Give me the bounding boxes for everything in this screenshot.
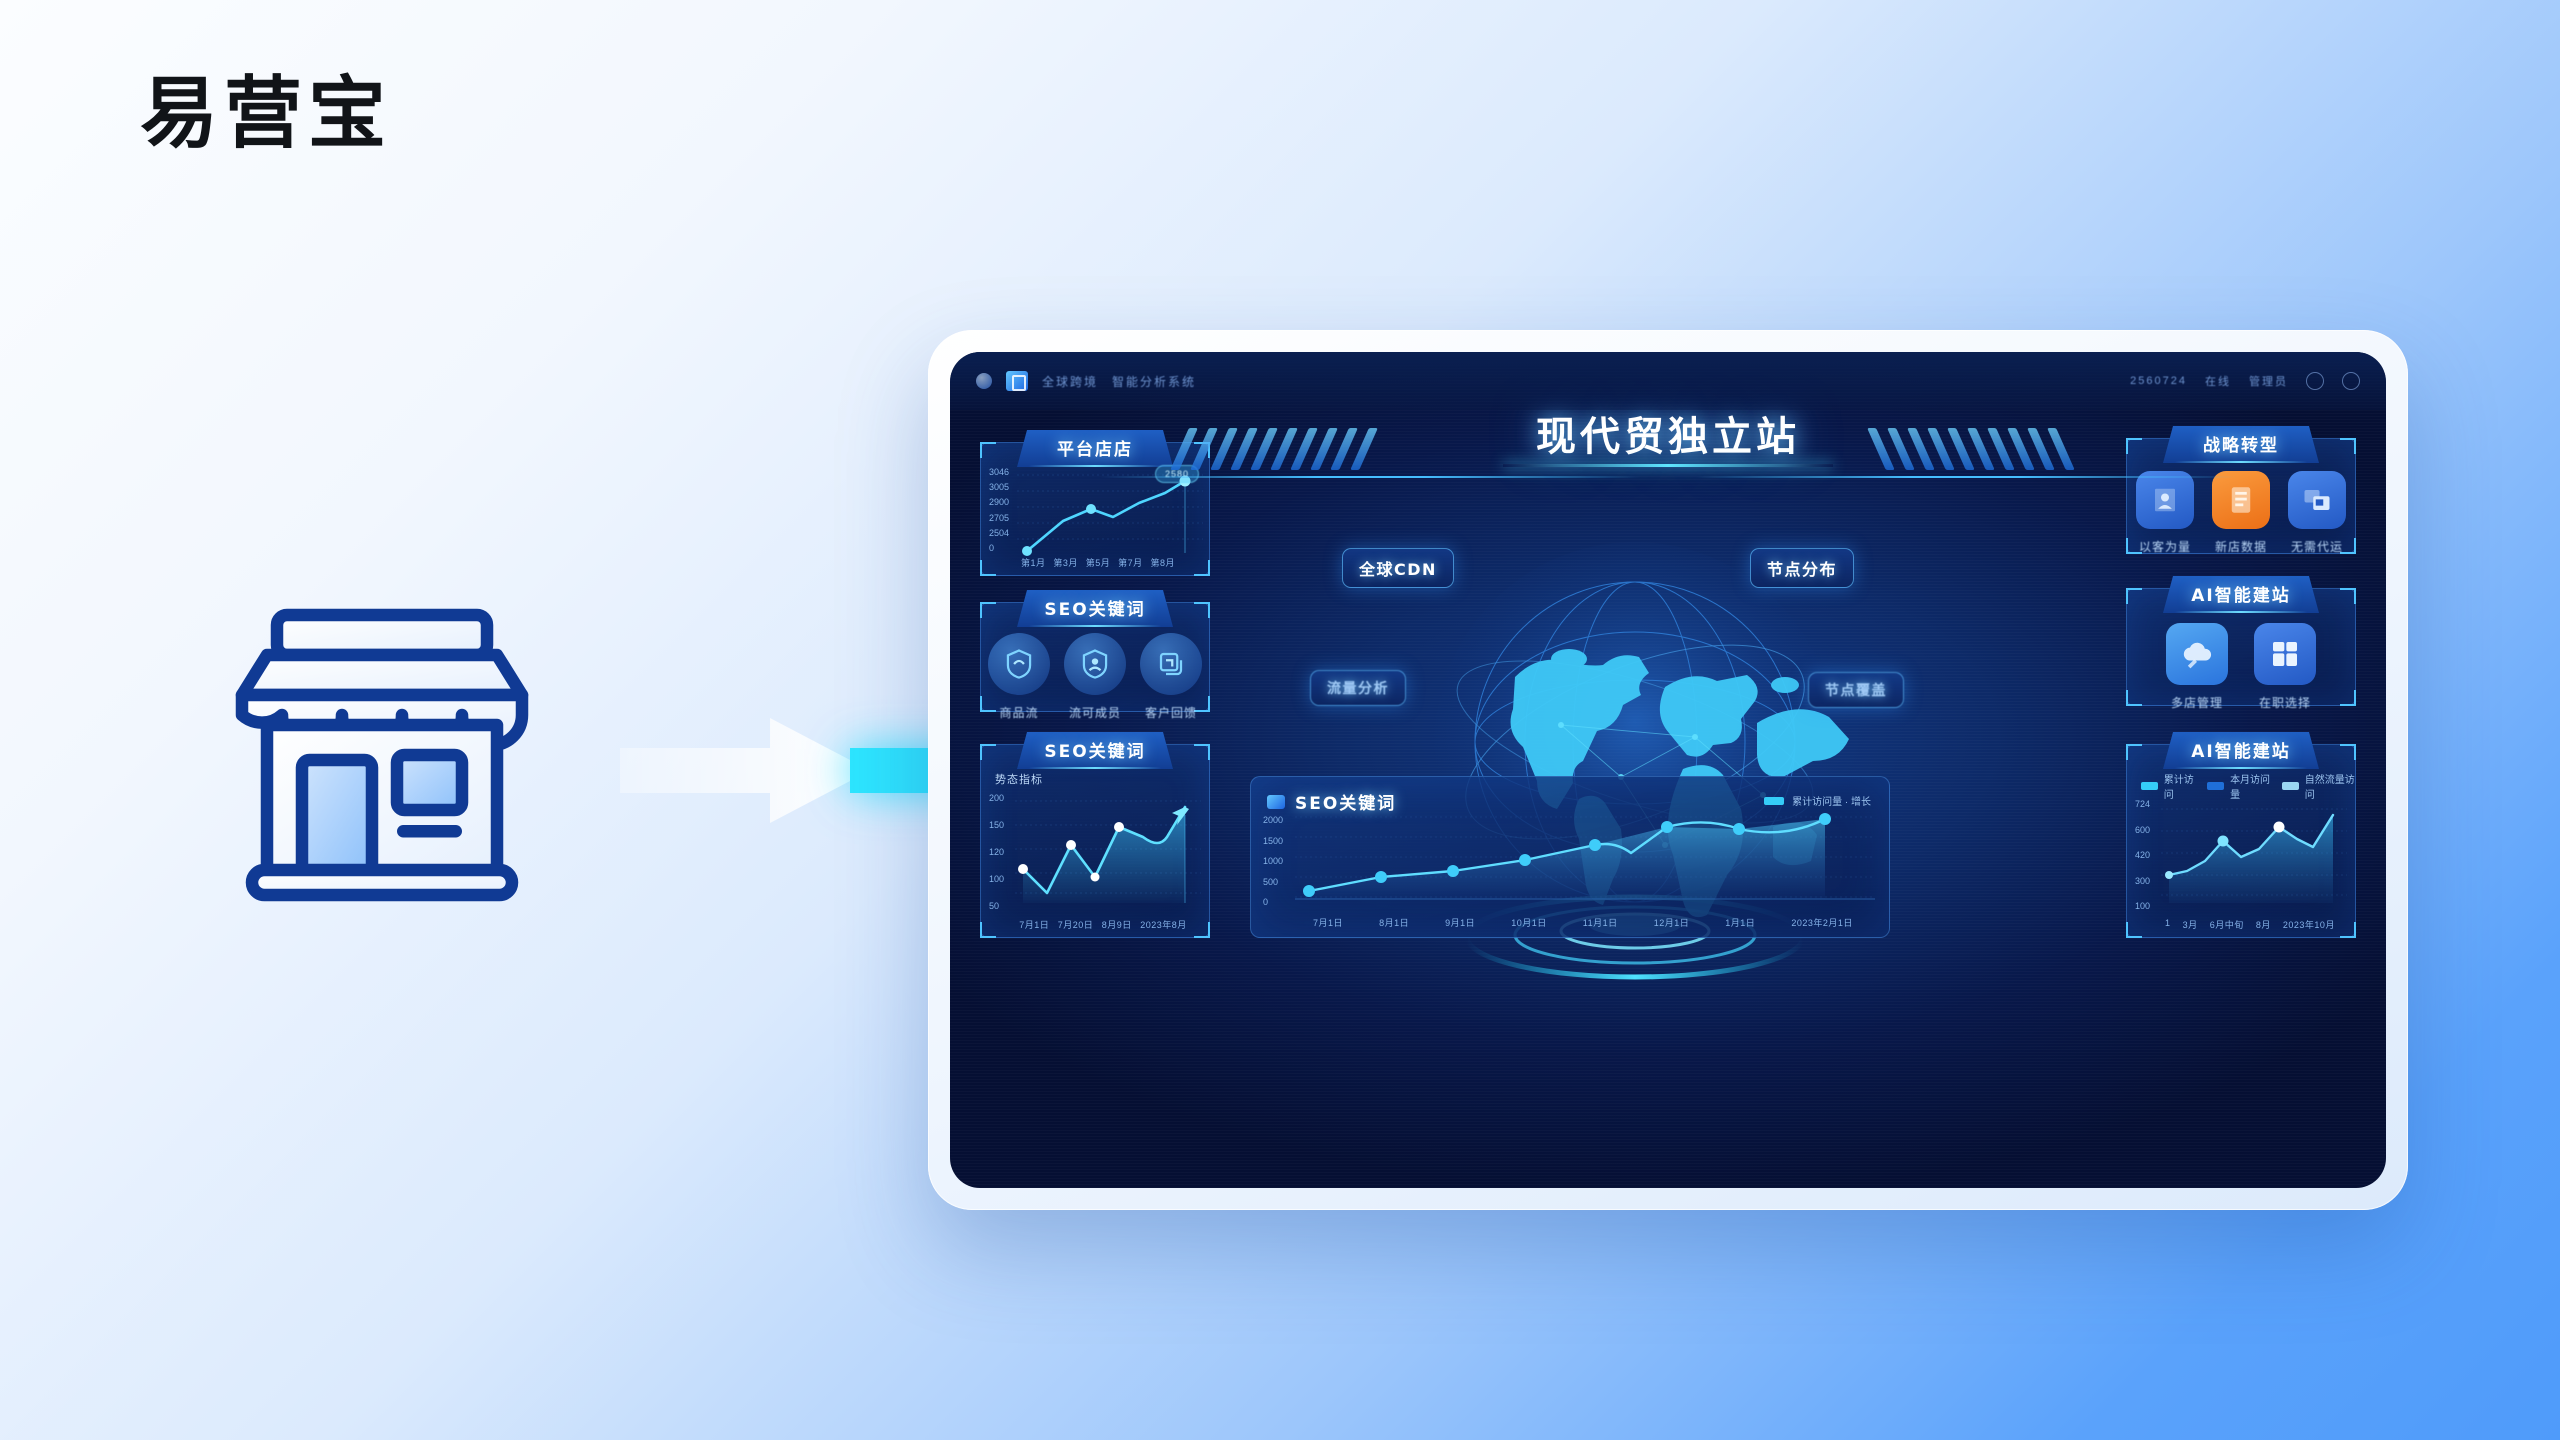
tablet-frame: 全球跨境 智能分析系统 2560724 在线 管理员 现代贸独立站	[928, 330, 2408, 1210]
ai-builder-tile-1-label: 在职选择	[2259, 694, 2311, 711]
topbar-meta-0: 2560724	[2130, 375, 2187, 387]
card-seo-main-chart[interactable]: SEO关键词 累计访问量 · 增长 2000 1500 1000 500 0	[1250, 776, 1890, 938]
dashboard-title: 现代贸独立站	[1536, 404, 1800, 462]
x-axis-labels: 第1月 第3月 第5月 第7月 第8月	[981, 556, 1209, 569]
header-wing-right	[1854, 422, 2177, 474]
x-axis-labels: 1 3月 6月中旬 8月 2023年10月	[2127, 918, 2355, 931]
app-logo-icon	[1006, 371, 1028, 391]
y-axis-labels: 2000 1500 1000 500 0	[1263, 815, 1283, 907]
nav-item-1[interactable]: 智能分析系统	[1112, 373, 1196, 390]
card-ai-builder-chart[interactable]: AI智能建站 累计访问 本月访问量 自然流量访问 724 600 420 300…	[2126, 744, 2356, 938]
seo-tile-2[interactable]: 客户回馈	[1133, 633, 1209, 721]
seo-tile-0-label: 商品流	[999, 704, 1038, 721]
card-seo-keyword-icons[interactable]: SEO关键词 商品流 流可	[980, 602, 1210, 712]
legend-label-1: 本月访问量	[2230, 771, 2272, 801]
storefront-icon	[232, 600, 532, 910]
legend-label-2: 自然流量访问	[2305, 771, 2355, 801]
card-ai-builder-title: AI智能建站	[2163, 576, 2319, 613]
ai-builder-tile-1[interactable]: 在职选择	[2241, 623, 2329, 711]
arrow-right-icon	[620, 718, 870, 823]
ai-chart-legend: 累计访问 本月访问量 自然流量访问	[2141, 771, 2355, 801]
legend-label-0: 累计访问	[2164, 771, 2198, 801]
seo-trend-subtitle: 势态指标	[995, 771, 1043, 787]
header-rule-right	[1696, 476, 2236, 478]
legend-label-0: 累计访问量 · 增长	[1792, 793, 1871, 808]
y-axis-labels: 200 150 120 100 50	[989, 793, 1004, 911]
topbar-meta-1: 在线	[2205, 373, 2231, 389]
status-dot-icon	[976, 373, 992, 389]
node-distribution-label[interactable]: 节点分布	[1750, 548, 1854, 588]
topbar-meta-2: 管理员	[2249, 373, 2288, 389]
seo-main-area-chart	[1295, 811, 1875, 909]
card-ai-builder-chart-title: AI智能建站	[2163, 732, 2319, 769]
leaf-badge-icon	[988, 633, 1050, 695]
y-axis-labels: 724 600 420 300 100	[2135, 799, 2150, 911]
ai-builder-tile-0-label: 多店管理	[2171, 694, 2223, 711]
node-coverage-label[interactable]: 节点覆盖	[1808, 672, 1904, 708]
header-rule-left	[1100, 476, 1640, 478]
nav-item-0[interactable]: 全球跨境	[1042, 373, 1098, 390]
card-seo-icons-title: SEO关键词	[1017, 590, 1173, 627]
ai-builder-tile-0[interactable]: 多店管理	[2153, 623, 2241, 711]
card-seo-trend-title: SEO关键词	[1017, 732, 1173, 769]
seo-main-icon	[1267, 795, 1285, 809]
strategy-tile-0-label: 以客为量	[2139, 538, 2191, 555]
card-seo-keyword-trend[interactable]: SEO关键词 势态指标 200 150 120 100 50	[980, 744, 1210, 938]
notification-icon[interactable]	[2306, 372, 2324, 390]
x-axis-labels: 7月1日 7月20日 8月9日 2023年8月	[981, 918, 1209, 931]
grid-layout-icon	[2254, 623, 2316, 685]
seo-tile-2-label: 客户回馈	[1145, 704, 1197, 721]
header-wing-left	[1158, 422, 1481, 474]
title-underline	[1503, 464, 1833, 467]
global-cdn-label[interactable]: 全球CDN	[1342, 548, 1454, 588]
seo-tile-0[interactable]: 商品流	[981, 633, 1057, 721]
dashboard-screen: 全球跨境 智能分析系统 2560724 在线 管理员 现代贸独立站	[950, 352, 2386, 1188]
dashboard-header: 现代贸独立站	[950, 398, 2386, 494]
dashboard-topbar: 全球跨境 智能分析系统 2560724 在线 管理员	[950, 352, 2386, 410]
card-ai-builder[interactable]: AI智能建站 多店管理 在职选择	[2126, 588, 2356, 706]
strategy-tile-2-label: 无需代运	[2291, 538, 2343, 555]
seo-tile-1[interactable]: 流可成员	[1057, 633, 1133, 721]
seo-main-legend: 累计访问量 · 增长	[1764, 793, 1871, 808]
seo-trend-area-chart	[1015, 793, 1201, 911]
layers-sync-icon	[1140, 633, 1202, 695]
settings-icon[interactable]	[2342, 372, 2360, 390]
page-title: 易营宝	[140, 75, 392, 153]
traffic-analysis-label[interactable]: 流量分析	[1310, 670, 1406, 706]
x-axis-labels: 7月1日 8月1日 9月1日 10月1日 11月1日 12月1日 1月1日 20…	[1251, 916, 1889, 929]
shield-user-icon	[1064, 633, 1126, 695]
ai-builder-area-chart	[2161, 799, 2347, 911]
strategy-tile-1-label: 新店数据	[2215, 538, 2267, 555]
seo-tile-1-label: 流可成员	[1069, 704, 1121, 721]
cloud-pen-icon	[2166, 623, 2228, 685]
